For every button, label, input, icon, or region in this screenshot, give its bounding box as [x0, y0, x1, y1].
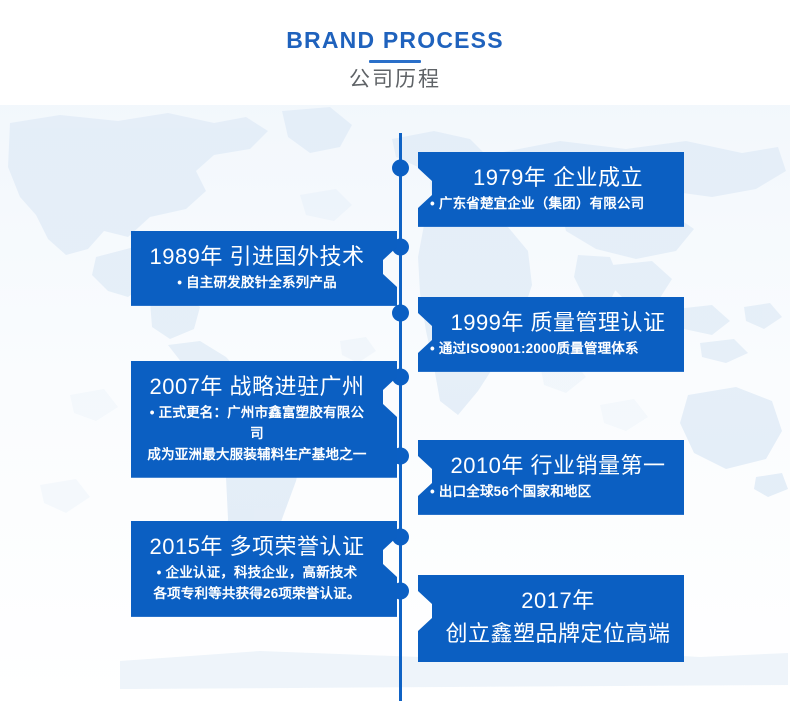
timeline-card-1979-year: 1979年 企业成立 — [430, 161, 672, 194]
page-header: BRAND PROCESS 公司历程 — [0, 0, 790, 92]
desc-line: • 通过ISO9001:2000质量管理体系 — [430, 339, 672, 360]
timeline-card-2007-year: 2007年 战略进驻广州 — [143, 370, 385, 403]
timeline-dot-1 — [392, 160, 409, 177]
desc-line: • 出口全球56个国家和地区 — [430, 482, 672, 503]
desc-line: 成为亚洲最大服装辅料生产基地之一 — [143, 445, 371, 466]
timeline-card-2007[interactable]: 2007年 战略进驻广州 • 正式更名：广州市鑫富塑胶有限公司 成为亚洲最大服装… — [131, 361, 397, 478]
timeline-card-2017[interactable]: 2017年 创立鑫塑品牌定位高端 — [418, 575, 684, 662]
timeline-card-1989-year: 1989年 引进国外技术 — [143, 240, 385, 273]
desc-line: 各项专利等共获得26项荣誉认证。 — [143, 584, 371, 605]
page-title-en: BRAND PROCESS — [0, 28, 790, 53]
timeline-card-1999[interactable]: 1999年 质量管理认证 • 通过ISO9001:2000质量管理体系 — [418, 297, 684, 372]
desc-line: • 企业认证，科技企业，高新技术 — [143, 563, 371, 584]
timeline-card-1989-desc: • 自主研发胶针全系列产品 — [143, 273, 385, 294]
timeline-card-1979-desc: • 广东省楚宜企业（集团）有限公司 — [430, 194, 672, 215]
timeline-card-1979[interactable]: 1979年 企业成立 • 广东省楚宜企业（集团）有限公司 — [418, 152, 684, 227]
desc-line: • 正式更名：广州市鑫富塑胶有限公司 — [143, 403, 371, 445]
timeline-axis — [399, 133, 402, 701]
page-title-cn: 公司历程 — [0, 67, 790, 92]
timeline-card-2010-desc: • 出口全球56个国家和地区 — [430, 482, 672, 503]
timeline-card-2015[interactable]: 2015年 多项荣誉认证 • 企业认证，科技企业，高新技术 各项专利等共获得26… — [131, 521, 397, 617]
timeline-card-1989[interactable]: 1989年 引进国外技术 • 自主研发胶针全系列产品 — [131, 231, 397, 306]
timeline-dot-3 — [392, 305, 409, 322]
timeline-card-2010[interactable]: 2010年 行业销量第一 • 出口全球56个国家和地区 — [418, 440, 684, 515]
header-divider — [369, 60, 421, 63]
timeline-card-2015-desc: • 企业认证，科技企业，高新技术 各项专利等共获得26项荣誉认证。 — [143, 563, 385, 605]
desc-line: • 自主研发胶针全系列产品 — [143, 273, 371, 294]
timeline-card-2017-year: 2017年 — [430, 584, 672, 617]
timeline-card-2010-year: 2010年 行业销量第一 — [430, 449, 672, 482]
timeline-card-1999-year: 1999年 质量管理认证 — [430, 306, 672, 339]
desc-line: • 广东省楚宜企业（集团）有限公司 — [430, 194, 672, 215]
brand-process-infographic: BRAND PROCESS 公司历程 1979年 企业成立 • 广东省楚宜企业（… — [0, 0, 790, 704]
timeline-card-2015-year: 2015年 多项荣誉认证 — [143, 530, 385, 563]
timeline-card-2007-desc: • 正式更名：广州市鑫富塑胶有限公司 成为亚洲最大服装辅料生产基地之一 — [143, 403, 385, 466]
timeline-card-2017-title: 创立鑫塑品牌定位高端 — [430, 617, 672, 650]
timeline-card-1999-desc: • 通过ISO9001:2000质量管理体系 — [430, 339, 672, 360]
